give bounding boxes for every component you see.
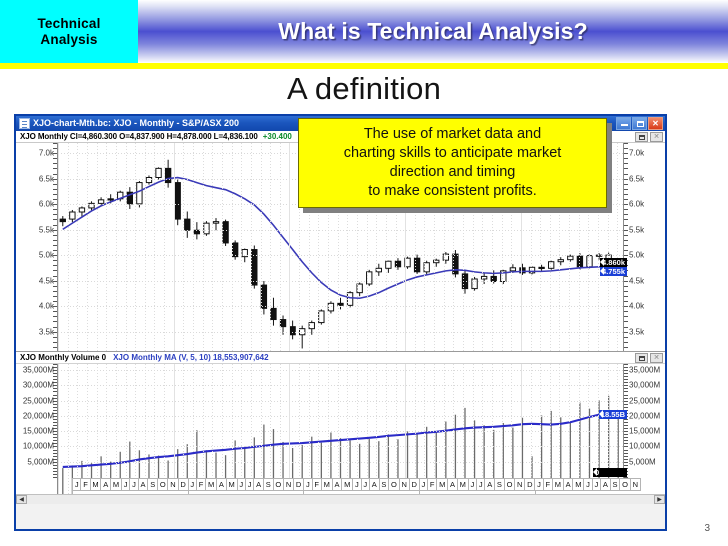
moving-average-tag: 4.755k (600, 267, 627, 276)
month-label: J (238, 478, 246, 491)
month-label: N (168, 478, 178, 491)
month-label: O (274, 478, 284, 491)
month-label: J (246, 478, 254, 491)
close-icon[interactable]: ✕ (648, 117, 663, 130)
axis-tick-label: 25,000M (629, 396, 660, 405)
gridline-vertical (617, 143, 618, 351)
candle (70, 210, 75, 222)
month-label: M (227, 478, 238, 491)
month-label: J (477, 478, 485, 491)
month-label: J (535, 478, 543, 491)
month-label: J (469, 478, 477, 491)
gridline-vertical (106, 143, 107, 351)
gridline-vertical (68, 143, 69, 351)
month-label: S (264, 478, 274, 491)
window-controls: ✕ (616, 117, 664, 130)
quote-text: XJO Monthly Cl=4,860.300 O=4,837.900 H=4… (16, 132, 258, 141)
document-icon (19, 118, 30, 129)
month-label: A (564, 478, 574, 491)
axis-tick-label: 7.0k (629, 149, 644, 158)
gridline-vertical (280, 143, 281, 351)
candle (300, 326, 305, 349)
month-label: O (620, 478, 630, 491)
price-axis-right: 7.0k6.5k6.0k5.5k5.0k4.5k4.0k3.5k (623, 143, 665, 351)
definition-callout: The use of market data and charting skil… (298, 118, 607, 208)
month-label: D (294, 478, 304, 491)
month-label: M (111, 478, 122, 491)
month-label: J (362, 478, 370, 491)
month-label: N (515, 478, 525, 491)
month-label: M (91, 478, 102, 491)
gridline-vertical (251, 143, 252, 351)
section-tab-technical-analysis: Technical Analysis (0, 0, 138, 63)
axis-tick-label: 4.0k (629, 302, 644, 311)
callout-line-2: charting skills to anticipate market (344, 144, 562, 163)
volume-pane-close-icon[interactable]: ✕ (650, 353, 663, 363)
month-label: A (448, 478, 458, 491)
gridline (58, 306, 623, 307)
gridline (58, 255, 623, 256)
month-label: J (353, 478, 361, 491)
pane-restore-icon[interactable] (635, 132, 648, 142)
volume-ma-tag: 18.55B (599, 410, 627, 419)
gridline-vertical (212, 143, 213, 351)
month-label: S (380, 478, 390, 491)
month-label: S (148, 478, 158, 491)
gridline (58, 401, 623, 402)
page-subtitle: A definition (0, 68, 728, 110)
pane-controls-volume: ✕ (635, 353, 663, 363)
gridline-vertical (270, 143, 271, 351)
gridline (58, 416, 623, 417)
gridline-vertical (174, 143, 175, 351)
month-label: N (631, 478, 641, 491)
axis-tick-label: 7.0k (39, 149, 54, 158)
month-label: J (130, 478, 138, 491)
candle (261, 281, 266, 314)
gridline-vertical (289, 143, 290, 351)
axis-tick-label: 35,000M (629, 366, 660, 375)
volume-text: XJO Monthly Volume 0 (16, 353, 106, 362)
month-label: M (553, 478, 564, 491)
axis-tick-label: 4.0k (39, 302, 54, 311)
gridline (58, 230, 623, 231)
section-tab-line2: Analysis (40, 32, 97, 48)
month-label: O (158, 478, 168, 491)
section-tab-line1: Technical (37, 16, 100, 32)
month-label: A (370, 478, 380, 491)
month-label: D (525, 478, 535, 491)
candle (194, 222, 199, 239)
axis-tick-label: 20,000M (23, 411, 54, 420)
month-label: A (254, 478, 264, 491)
axis-tick-label: 4.5k (39, 276, 54, 285)
gridline (58, 332, 623, 333)
axis-tick-label: 6.0k (39, 200, 54, 209)
scroll-left-icon[interactable]: ◀ (16, 495, 27, 504)
price-axis-left: 7.0k6.5k6.0k5.5k5.0k4.5k4.0k3.5k (16, 143, 58, 351)
gridline-vertical (135, 143, 136, 351)
axis-tick-label: 25,000M (23, 396, 54, 405)
candle (252, 245, 257, 288)
restore-icon[interactable] (632, 117, 647, 130)
gridline-vertical (97, 143, 98, 351)
month-label: J (122, 478, 130, 491)
price-axis-right-ticks (623, 143, 628, 351)
axis-tick-label: 5,000M (629, 457, 656, 466)
candle (319, 309, 324, 324)
month-label: M (206, 478, 217, 491)
axis-tick-label: 5.5k (629, 225, 644, 234)
candle (127, 187, 132, 209)
month-label: O (389, 478, 399, 491)
month-label: M (573, 478, 584, 491)
month-label: F (313, 478, 322, 491)
month-label: A (601, 478, 611, 491)
axis-tick-label: 30,000M (629, 381, 660, 390)
gridline-vertical (183, 143, 184, 351)
month-label: M (342, 478, 353, 491)
month-label: M (437, 478, 448, 491)
callout-line-1: The use of market data and (364, 125, 541, 144)
gridline (58, 281, 623, 282)
month-label: A (101, 478, 111, 491)
axis-tick-label: 15,000M (23, 427, 54, 436)
volume-ma-text: XJO Monthly MA (V, 5, 10) 18,553,907,642 (106, 353, 268, 362)
candle (309, 321, 314, 335)
month-label: F (81, 478, 90, 491)
axis-tick-label: 5,000M (27, 457, 54, 466)
month-label: J (72, 478, 81, 491)
callout-line-3: direction and timing (390, 163, 516, 182)
month-label: S (495, 478, 505, 491)
axis-tick-label: 3.5k (39, 327, 54, 336)
gridline-vertical (193, 143, 194, 351)
callout-line-4: to make consistent profits. (368, 182, 536, 201)
candle (232, 240, 237, 259)
axis-tick-label: 30,000M (23, 381, 54, 390)
month-label: A (217, 478, 227, 491)
axis-tick-label: 6.0k (629, 200, 644, 209)
gridline-vertical (87, 143, 88, 351)
candle (290, 321, 295, 340)
gridline (58, 462, 623, 463)
month-label: D (179, 478, 189, 491)
gridline-vertical (232, 143, 233, 351)
month-label: F (428, 478, 437, 491)
axis-tick-label: 10,000M (23, 442, 54, 451)
axis-tick-label: 3.5k (629, 327, 644, 336)
candle (213, 218, 218, 230)
month-label: F (544, 478, 553, 491)
candle (204, 221, 209, 236)
gridline-vertical (261, 143, 262, 351)
month-label: N (400, 478, 410, 491)
quote-change: +30.400 (258, 132, 292, 141)
volume-chart-pane[interactable]: 35,000M30,000M25,000M20,000M15,000M10,00… (16, 364, 665, 504)
axis-tick-label: 15,000M (629, 427, 660, 436)
gridline (58, 446, 623, 447)
month-label: F (197, 478, 206, 491)
gridline-vertical (126, 143, 127, 351)
gridline-vertical (222, 143, 223, 351)
axis-tick-label: 5.5k (39, 225, 54, 234)
slide-number: 3 (704, 523, 710, 534)
month-label: A (139, 478, 149, 491)
month-label: A (333, 478, 343, 491)
gridline-vertical (203, 143, 204, 351)
pane-controls-price: ✕ (635, 132, 663, 142)
gridline-vertical (77, 143, 78, 351)
axis-tick-label: 4.5k (629, 276, 644, 285)
horizontal-scrollbar[interactable]: ◀ ▶ (16, 494, 665, 504)
gridline-vertical (116, 143, 117, 351)
gridline (58, 431, 623, 432)
volume-header-bar: XJO Monthly Volume 0 XJO Monthly MA (V, … (16, 352, 665, 364)
month-label: S (611, 478, 621, 491)
month-label: M (322, 478, 333, 491)
candle (328, 301, 333, 313)
axis-tick-label: 5.0k (39, 251, 54, 260)
month-label: D (410, 478, 420, 491)
volume-pane-restore-icon[interactable] (635, 353, 648, 363)
candle (185, 211, 190, 237)
month-label: A (485, 478, 495, 491)
pane-close-icon[interactable]: ✕ (650, 132, 663, 142)
gridline (58, 370, 623, 371)
candle (146, 175, 151, 184)
minimize-icon[interactable] (616, 117, 631, 130)
gridline-vertical (241, 143, 242, 351)
gridline-vertical (145, 143, 146, 351)
month-label: J (584, 478, 592, 491)
month-label-row: JFMAMJJASONDJFMAMJJASONDJFMAMJJASONDJFMA… (72, 478, 641, 491)
axis-tick-label: 6.5k (629, 174, 644, 183)
month-label: J (420, 478, 428, 491)
page-title: What is Technical Analysis? (138, 0, 728, 63)
month-label: J (189, 478, 197, 491)
axis-tick-label: 20,000M (629, 411, 660, 420)
month-label: M (458, 478, 469, 491)
axis-tick-label: 35,000M (23, 366, 54, 375)
gridline-vertical (58, 143, 59, 351)
axis-tick-label: 6.5k (39, 174, 54, 183)
scroll-right-icon[interactable]: ▶ (654, 495, 665, 504)
month-label: O (505, 478, 515, 491)
candle (175, 180, 180, 226)
gridline-vertical (154, 143, 155, 351)
axis-tick-label: 10,000M (629, 442, 660, 451)
candle (271, 298, 276, 326)
volume-zero-tag: 0 (593, 468, 627, 477)
gridline-vertical (164, 143, 165, 351)
month-label: N (284, 478, 294, 491)
month-label: J (304, 478, 312, 491)
candle (165, 160, 170, 188)
slide-root: Technical Analysis What is Technical Ana… (0, 0, 728, 546)
gridline (58, 385, 623, 386)
candle (60, 216, 65, 226)
axis-tick-label: 5.0k (629, 251, 644, 260)
month-label: J (593, 478, 601, 491)
candle (223, 220, 228, 246)
